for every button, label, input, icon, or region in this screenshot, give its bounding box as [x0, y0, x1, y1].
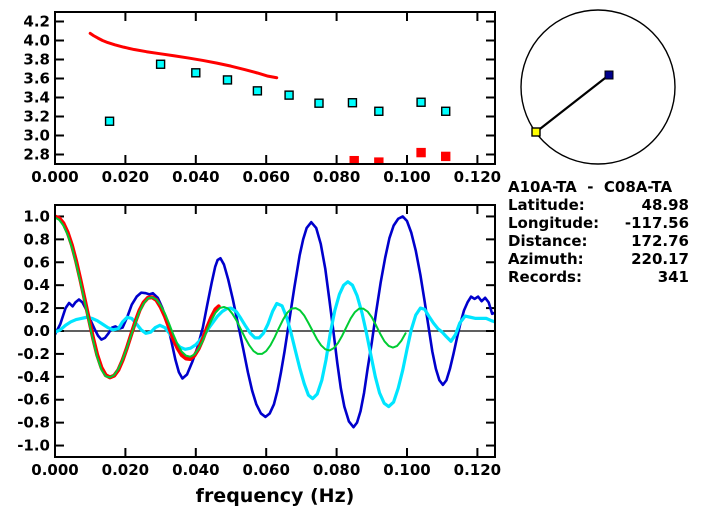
metadata-label: Distance:: [508, 232, 588, 250]
y-tick-label: -0.2: [17, 345, 50, 363]
metadata-label: Azimuth:: [508, 250, 584, 268]
y-tick-label: 4.0: [23, 32, 50, 50]
x-axis-title: frequency (Hz): [196, 485, 355, 507]
y-tick-label: -0.4: [17, 368, 50, 386]
y-tick-label: -0.6: [17, 391, 50, 409]
x-tick-label: 0.000: [31, 168, 78, 186]
data-point-marker: [285, 91, 293, 99]
metadata-label: Records:: [508, 268, 582, 286]
x-tick-label: 0.020: [102, 461, 149, 479]
waveform-panel-data: [55, 216, 495, 427]
data-point-marker: [417, 149, 425, 157]
data-point-marker: [106, 117, 114, 125]
y-tick-label: 4.2: [23, 13, 50, 31]
station-pair-map: [505, 5, 700, 175]
data-point-marker: [375, 107, 383, 115]
x-tick-label: 0.040: [172, 168, 219, 186]
metadata-rows: Latitude:48.98Longitude:-117.56Distance:…: [508, 196, 703, 286]
y-tick-label: 3.6: [23, 70, 50, 88]
y-tick-label: 3.0: [23, 127, 50, 145]
metadata-value: 341: [658, 268, 703, 286]
y-tick-label: -1.0: [17, 437, 50, 455]
metadata-row: Records:341: [508, 268, 703, 286]
curve-synthetic-waveform-green: [55, 218, 406, 378]
metadata-row: Distance:172.76: [508, 232, 703, 250]
data-point-marker: [442, 107, 450, 115]
metadata-label: Longitude:: [508, 214, 599, 232]
curve-reference-dispersion-curve: [90, 33, 277, 77]
figure-canvas: 0.0000.0200.0400.0600.0800.1000.1202.83.…: [0, 0, 703, 519]
y-tick-label: 0.2: [23, 299, 50, 317]
data-point-marker: [157, 60, 165, 68]
data-point-marker: [442, 152, 450, 160]
curve-narrow-band-envelope-cyan: [55, 282, 495, 407]
y-tick-label: -0.8: [17, 414, 50, 432]
x-tick-label: 0.080: [313, 461, 360, 479]
y-tick-label: 1.0: [23, 207, 50, 225]
great-circle-path: [536, 75, 609, 132]
dispersion-panel: 0.0000.0200.0400.0600.0800.1000.1202.83.…: [0, 0, 510, 200]
waveform-panel: 0.0000.0200.0400.0600.0800.1000.120-1.0-…: [0, 190, 520, 520]
metadata-row: Longitude:-117.56: [508, 214, 703, 232]
y-tick-label: 0.8: [23, 230, 50, 248]
data-point-marker: [315, 99, 323, 107]
y-tick-label: 0.0: [23, 322, 50, 340]
data-point-marker: [348, 99, 356, 107]
metadata-row: Azimuth:220.17: [508, 250, 703, 268]
dispersion-panel-frame: [55, 12, 495, 164]
x-tick-label: 0.120: [454, 168, 501, 186]
metadata-label: Latitude:: [508, 196, 585, 214]
x-tick-label: 0.120: [454, 461, 501, 479]
y-tick-label: 0.4: [23, 276, 50, 294]
y-tick-label: 0.6: [23, 253, 50, 271]
y-tick-label: 3.2: [23, 108, 50, 126]
receiver-station-marker: [605, 71, 613, 79]
y-tick-label: 2.8: [23, 146, 50, 164]
metadata-value: 172.76: [631, 232, 703, 250]
map-circle: [521, 10, 675, 164]
y-tick-label: 3.4: [23, 89, 50, 107]
x-tick-label: 0.060: [242, 461, 289, 479]
station-pair-title: A10A-TA - C08A-TA: [508, 178, 703, 196]
metadata-block: A10A-TA - C08A-TA Latitude:48.98Longitud…: [508, 178, 703, 286]
x-tick-label: 0.100: [383, 168, 430, 186]
metadata-row: Latitude:48.98: [508, 196, 703, 214]
x-tick-label: 0.020: [102, 168, 149, 186]
y-tick-label: 3.8: [23, 51, 50, 69]
dispersion-panel-data: [90, 33, 450, 166]
metadata-value: -117.56: [625, 214, 703, 232]
data-point-marker: [192, 69, 200, 77]
metadata-value: 220.17: [631, 250, 703, 268]
metadata-value: 48.98: [642, 196, 703, 214]
source-station-marker: [532, 128, 540, 136]
x-tick-label: 0.060: [242, 168, 289, 186]
data-point-marker: [417, 98, 425, 106]
x-tick-label: 0.000: [31, 461, 78, 479]
x-tick-label: 0.080: [313, 168, 360, 186]
x-tick-label: 0.040: [172, 461, 219, 479]
data-point-marker: [223, 76, 231, 84]
data-point-marker: [253, 87, 261, 95]
x-tick-label: 0.100: [383, 461, 430, 479]
